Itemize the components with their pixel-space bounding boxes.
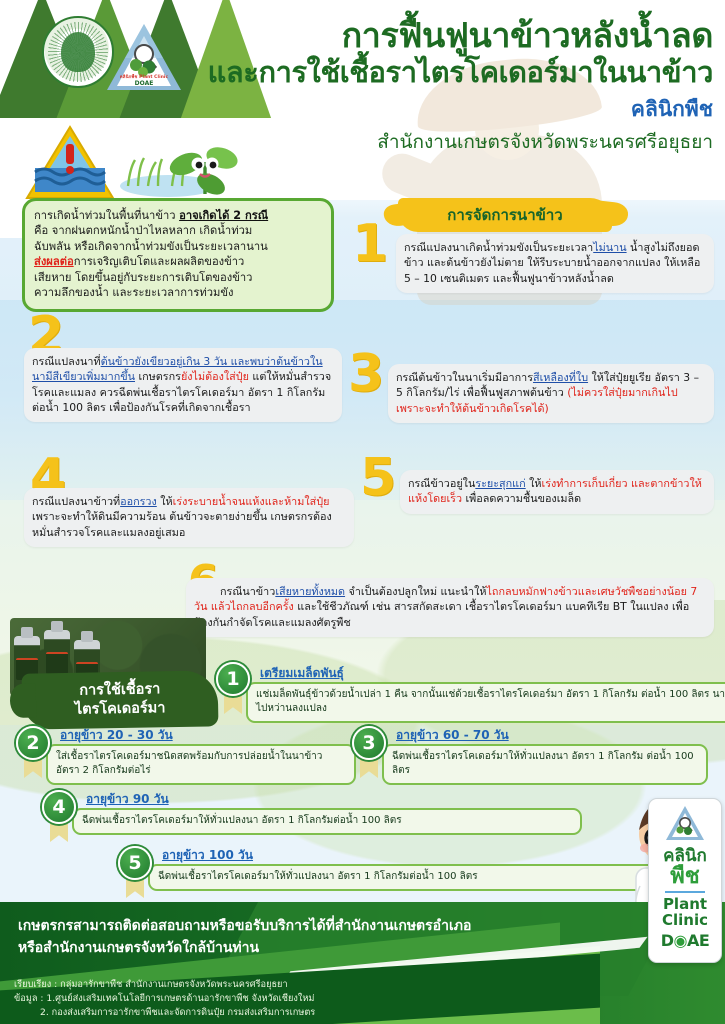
step5-seg2: ระยะสุกแก่ [475,477,525,490]
step6-seg3: จำเป็นต้องปลูกใหม่ แนะนำให้ [345,585,486,598]
trichoderma-step-4-badge: 4 [42,790,76,824]
step-number-1: 1 [352,218,388,270]
trichoderma-step-4-body: ฉีดพ่นเชื้อราไตรโคเดอร์มาให้ทั่วแปลงนา อ… [72,808,582,835]
trichoderma-step-3-badge: 3 [352,726,386,760]
clinic-card-doae: D◉AE [649,931,721,950]
trichoderma-banner-line2: ไตรโคเดอร์มา [75,699,166,719]
step4-seg3: ให้ [157,495,173,508]
clinic-card-th-line1: คลินิก [649,848,721,865]
flood-intro-box: การเกิดน้ำท่วมในพื้นที่นาข้าว อาจเกิดได้… [22,198,334,312]
flood-warning-icon [24,124,116,202]
trichoderma-step-3-body: ฉีดพ่นเชื้อราไตรโคเดอร์มาให้ทั่วแปลงนา อ… [382,744,708,785]
infographic-poster: คลินิกพืช Plant Clinic DOAE การฟื้นฟูนาข… [0,0,725,1024]
trichoderma-step-2-title: อายุข้าว 20 - 30 วัน [60,726,173,745]
step5-seg5: เพื่อลดความชื้นของเมล็ด [462,492,581,505]
step4-seg5: เพราะจะทำให้ดินมีความร้อน ต้นข้าวจะตายง่… [32,510,332,538]
step3-seg2: สีเหลืองที่ใบ [533,371,588,384]
step1-seg1: กรณีแปลงนาเกิดน้ำท่วมขังเป็นระยะเวลา [404,241,593,254]
intro-line3: ฉับพลัน หรือเกิดจากน้ำท่วมขังเป็นระยะเวล… [34,239,322,254]
trichoderma-section-banner: การใช้เชื้อรา ไตรโคเดอร์มา [22,670,219,729]
intro-line5: เสียหาย โดยขึ้นอยู่กับระยะการเติบโตของข้… [34,270,322,285]
step5-seg1: กรณีข้าวอยู่ใน [408,477,475,490]
trichoderma-banner-line1: การใช้เชื้อรา [79,680,160,700]
step4-seg2: ออกรวง [120,495,157,508]
step1-seg2: ไม่นาน [593,241,626,254]
trichoderma-step-2-body: ใส่เชื้อราไตรโคเดอร์มาชนิดสดพร้อมกับการป… [46,744,356,785]
step4-seg1: กรณีแปลงนาข้าวที่ [32,495,120,508]
organization-name: คลินิกพืช [193,93,713,126]
footer-credit-line2: ข้อมูล : 1.ศูนย์ส่งเสริมเทคโนโลยีการเกษต… [14,992,584,1006]
trichoderma-step-3-title: อายุข้าว 60 - 70 วัน [396,726,509,745]
intro-line2: คือ จากฝนตกหนักน้ำป่าไหลหลาก เกิดน้ำท่วม [34,223,322,238]
management-ribbon-label: การจัดการนาข้าว [447,203,562,227]
management-step-2: กรณีแปลงนาที่ต้นข้าวยังเขียวอยู่เกิน 3 ว… [24,348,342,422]
plant-clinic-triangle-icon [664,804,706,842]
trichoderma-step-2-badge: 2 [16,726,50,760]
trichoderma-step-1-body: แช่เมล็ดพันธุ์ข้าวด้วยน้ำเปล่า 1 คืน จาก… [246,682,725,723]
clinic-card-en-line1: Plant [649,896,721,912]
trichoderma-step-5-badge: 5 [118,846,152,880]
step5-seg3: ให้ [526,477,542,490]
trichoderma-step-5-body: ฉีดพ่นเชื้อราไตรโคเดอร์มาให้ทั่วแปลงนา อ… [148,864,658,891]
rice-sprout-mascot [110,128,240,200]
step2-seg4: ยังไม่ต้องใส่ปุ๋ย [181,370,249,383]
footer-credit-line3: 2. กองส่งเสริมการอารักขาพืชและจัดการดินป… [14,1006,584,1020]
management-step-5: กรณีข้าวอยู่ในระยะสุกแก่ ให้เร่งทำการเก็… [400,470,714,514]
doae-left: D [661,931,674,950]
trichoderma-step-4-title: อายุข้าว 90 วัน [86,790,169,809]
intro-line4-a: ส่งผลต่อ [34,255,74,268]
step2-seg1: กรณีแปลงนาที่ [32,355,101,368]
management-step-4: กรณีแปลงนาข้าวที่ออกรวง ให้เร่งระบายน้ำจ… [24,488,354,547]
trichoderma-step-1-title: เตรียมเมล็ดพันธุ์ [260,664,344,683]
step-number-3: 3 [348,348,384,400]
footer-credits: เรียบเรียง : กลุ่มอารักขาพืช สำนักงานเกษ… [14,978,584,1019]
footer-contact-line1: เกษตรกรสามารถติดต่อสอบถามหรือขอรับบริการ… [18,916,578,938]
clinic-card-divider [665,891,705,893]
organization-office: สำนักงานเกษตรจังหวัดพระนครศรีอยุธยา [193,127,713,157]
trichoderma-step-5-title: อายุข้าว 100 วัน [162,846,253,865]
intro-line1-a: การเกิดน้ำท่วมในพื้นที่นาข้าว [34,209,179,222]
step4-seg4: เร่งระบายน้ำจนแห้งและห้ามใส่ปุ๋ย [173,495,330,508]
intro-line4-b: การเจริญเติบโตและผลผลิตของข้าว [74,255,245,268]
footer-contact-text: เกษตรกรสามารถติดต่อสอบถามหรือขอรับบริการ… [18,916,578,959]
doae-mid-icon: ◉ [674,931,687,950]
step2-seg3: เกษตรกร [135,370,181,383]
management-section-ribbon: การจัดการนาข้าว [398,198,612,232]
page-title-line2: และการใช้เชื้อราไตรโคเดอร์มาในนาข้าว [193,56,713,88]
footer-contact-line2: หรือสำนักงานเกษตรจังหวัดใกล้บ้านท่าน [18,938,578,960]
management-step-6: กรณีนาข้าวเสียหายทั้งหมด จำเป็นต้องปลูกใ… [186,578,714,637]
step-number-5: 5 [360,452,396,504]
clinic-card-en-line2: Clinic [649,912,721,928]
clinic-card-th-line2: พืช [649,865,721,888]
management-step-1: กรณีแปลงนาเกิดน้ำท่วมขังเป็นระยะเวลาไม่น… [396,234,714,293]
management-step-3: กรณีต้นข้าวในนาเริ่มมีอาการสีเหลืองที่ใบ… [388,364,714,423]
footer-credit-line1: เรียบเรียง : กลุ่มอารักขาพืช สำนักงานเกษ… [14,978,584,992]
poster-title-block: การฟื้นฟูนาข้าวหลังน้ำลด และการใช้เชื้อร… [193,18,713,157]
page-title-line1: การฟื้นฟูนาข้าวหลังน้ำลด [193,18,713,54]
step6-seg2: เสียหายทั้งหมด [275,585,345,598]
plant-clinic-triangle-logo: คลินิกพืช Plant Clinic DOAE [105,20,183,94]
step3-seg1: กรณีต้นข้าวในนาเริ่มมีอาการ [396,371,533,384]
trichoderma-step-1-badge: 1 [216,662,250,696]
intro-line1-b: อาจเกิดได้ 2 กรณี [179,209,268,222]
step6-seg1: กรณีนาข้าว [194,585,275,598]
clinic-logo-doae: DOAE [105,80,183,87]
doae-right: AE [687,931,709,950]
plant-clinic-card: คลินิก พืช Plant Clinic D◉AE [648,798,722,963]
royal-seal-logo [42,16,114,88]
intro-line6: ความลึกของน้ำ และระยะเวลาการท่วมขัง [34,285,322,300]
